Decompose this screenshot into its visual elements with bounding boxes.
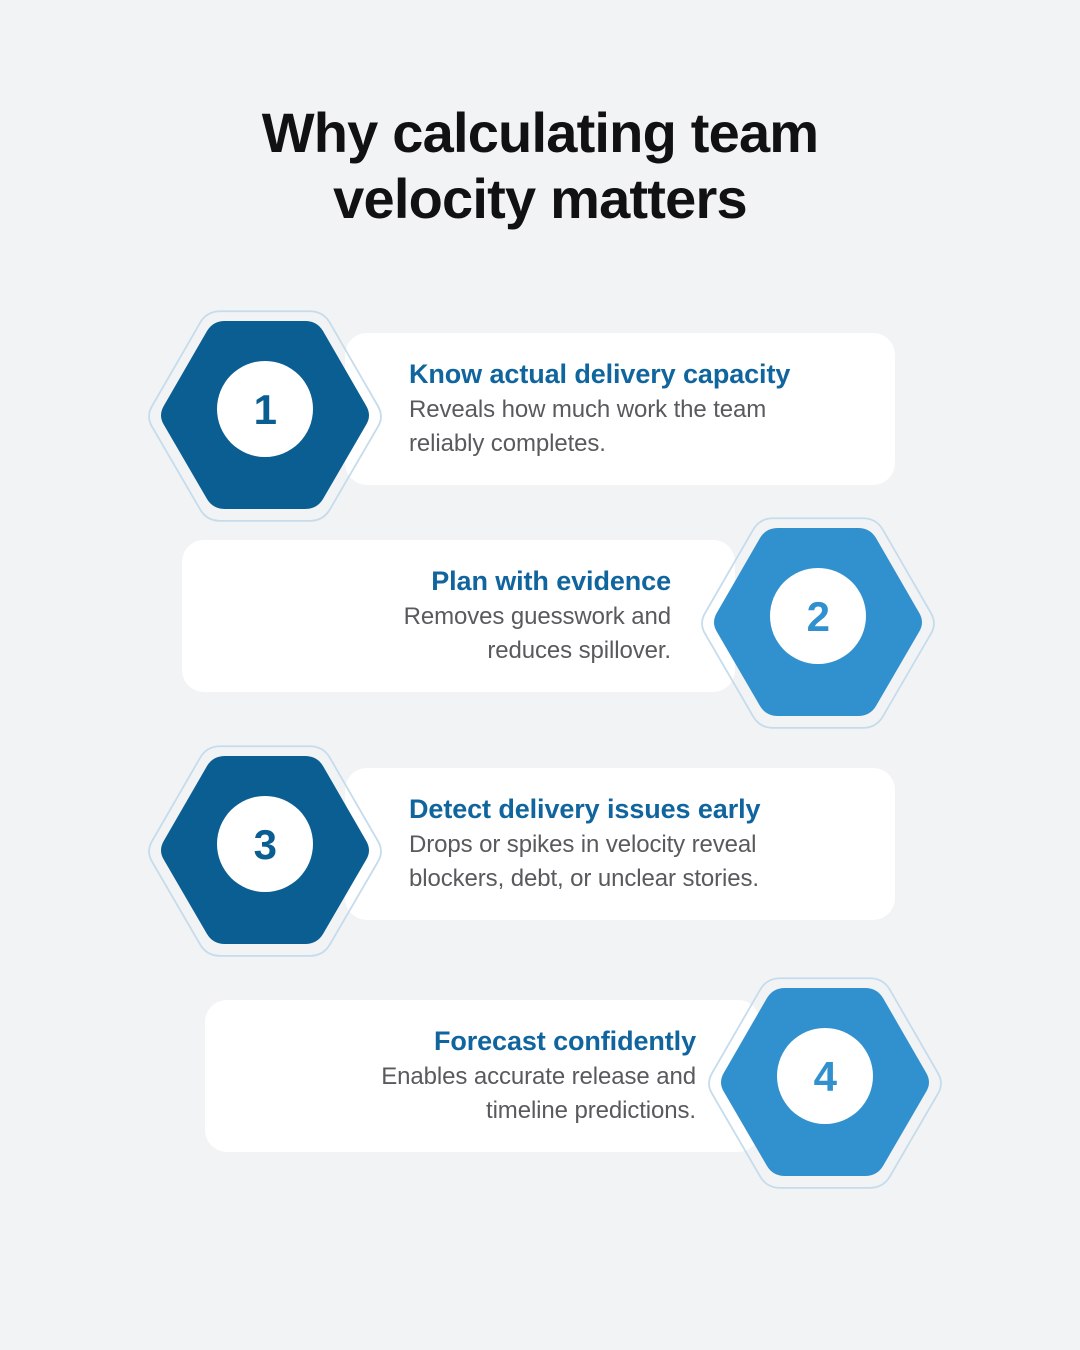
card-heading-3: Detect delivery issues early xyxy=(409,792,760,827)
infographic-poster: Why calculating team velocity matters Kn… xyxy=(0,0,1080,1350)
list-item: Detect delivery issues early Drops or sp… xyxy=(0,733,1080,948)
card-heading-2: Plan with evidence xyxy=(431,564,671,599)
card-heading-4: Forecast confidently xyxy=(434,1024,696,1059)
hexagon-icon xyxy=(693,505,943,720)
card-heading-1: Know actual delivery capacity xyxy=(409,357,790,392)
list-item: Forecast confidently Enables accurate re… xyxy=(0,965,1080,1180)
list-item: Plan with evidence Removes guesswork and… xyxy=(0,505,1080,720)
card-panel-2: Plan with evidence Removes guesswork and… xyxy=(182,540,735,692)
page-title: Why calculating team velocity matters xyxy=(0,100,1080,232)
hexagon-icon xyxy=(140,733,390,948)
number-circle-1 xyxy=(217,361,313,457)
card-body-1: Reveals how much work the team reliably … xyxy=(409,393,766,461)
number-circle-2 xyxy=(770,568,866,664)
hexagon-badge-3: 3 xyxy=(140,733,390,948)
card-body-3: Drops or spikes in velocity reveal block… xyxy=(409,828,759,896)
hexagon-icon xyxy=(700,965,950,1180)
card-panel-4: Forecast confidently Enables accurate re… xyxy=(205,1000,760,1152)
hexagon-badge-4: 4 xyxy=(700,965,950,1180)
card-panel-3: Detect delivery issues early Drops or sp… xyxy=(345,768,895,920)
card-body-2: Removes guesswork and reduces spillover. xyxy=(404,600,671,668)
number-circle-3 xyxy=(217,796,313,892)
number-circle-4 xyxy=(777,1028,873,1124)
card-panel-1: Know actual delivery capacity Reveals ho… xyxy=(345,333,895,485)
list-item: Know actual delivery capacity Reveals ho… xyxy=(0,298,1080,513)
card-body-4: Enables accurate release and timeline pr… xyxy=(381,1060,696,1128)
hexagon-badge-1: 1 xyxy=(140,298,390,513)
hexagon-icon xyxy=(140,298,390,513)
hexagon-badge-2: 2 xyxy=(693,505,943,720)
